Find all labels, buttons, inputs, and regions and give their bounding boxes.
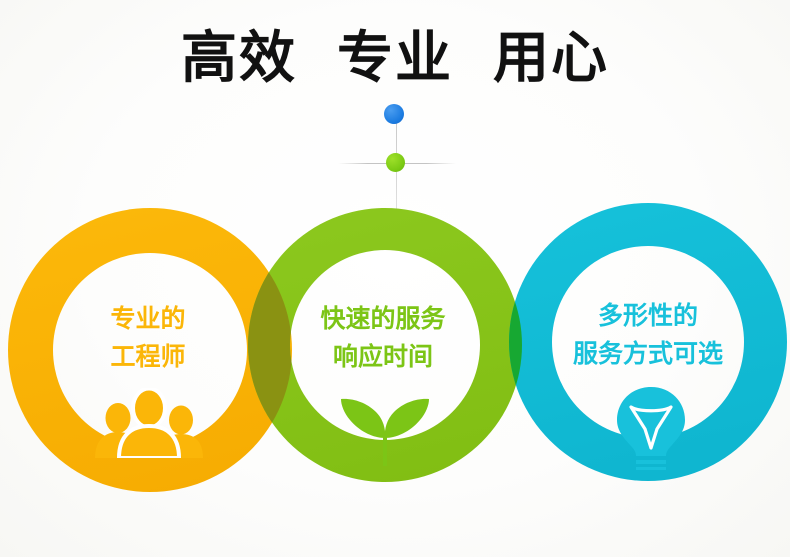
- circle3-line-2: 服务方式可选: [540, 335, 756, 373]
- circle1-line-1: 专业的: [48, 300, 248, 338]
- circle2-line-2: 响应时间: [283, 338, 483, 376]
- circle-content-service-modes: 多形性的 服务方式可选: [540, 297, 756, 373]
- circle-content-response-time: 快速的服务 响应时间: [283, 300, 483, 376]
- poster-canvas: 高效专业用心: [0, 0, 790, 557]
- sprout-icon: [330, 386, 440, 466]
- circle-content-engineers: 专业的 工程师: [48, 300, 248, 376]
- lightbulb-icon: [605, 385, 697, 470]
- overlap-green-cyan: [0, 0, 790, 557]
- circle1-line-2: 工程师: [48, 338, 248, 376]
- people-group-icon: [92, 388, 207, 458]
- circle2-line-1: 快速的服务: [283, 300, 483, 338]
- circle3-line-1: 多形性的: [540, 297, 756, 335]
- venn-diagram: [0, 0, 790, 557]
